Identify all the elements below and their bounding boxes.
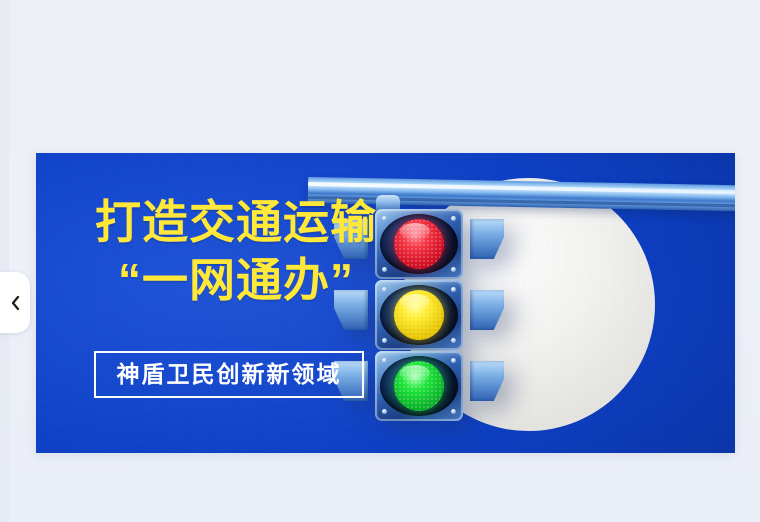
banner-subtitle-box: 神盾卫民创新新领域 <box>94 351 364 398</box>
screw-icon <box>451 409 456 414</box>
banner-subtitle-text: 神盾卫民创新新领域 <box>117 363 342 386</box>
screw-icon <box>451 267 456 272</box>
screw-icon <box>451 338 456 343</box>
screw-icon <box>451 287 456 292</box>
banner-text-block: 打造交通运输 “一网通办” 神盾卫民创新新领域 <box>36 153 436 453</box>
carousel-prev-button[interactable] <box>0 272 30 333</box>
screw-icon <box>451 216 456 221</box>
banner-headline-line-1: 打造交通运输 <box>36 199 436 245</box>
banner-headline-line-2: “一网通办” <box>36 257 436 303</box>
chevron-left-icon <box>11 296 20 310</box>
viewport-left-edge-strip <box>0 0 9 522</box>
carousel-banner[interactable]: 打造交通运输 “一网通办” 神盾卫民创新新领域 <box>36 153 735 453</box>
page-root: 打造交通运输 “一网通办” 神盾卫民创新新领域 <box>0 0 760 522</box>
screw-icon <box>451 358 456 363</box>
